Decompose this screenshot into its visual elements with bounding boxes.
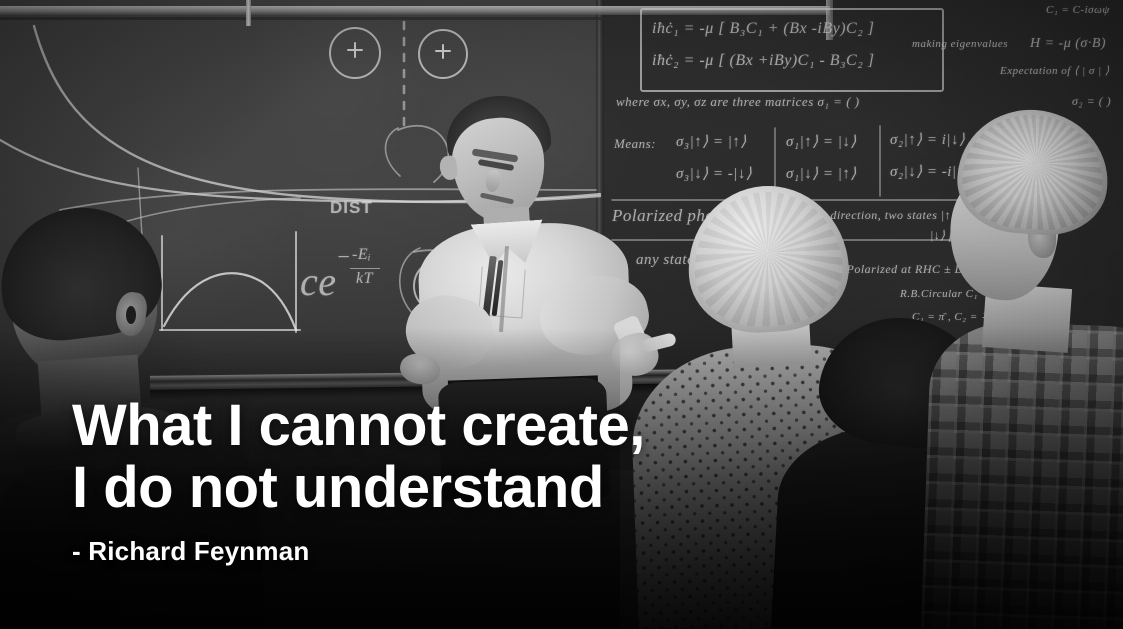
left-student-ear-canal bbox=[126, 306, 136, 324]
spin-relation-5: σ₁|↓⟩ = |↑⟩ bbox=[786, 164, 857, 183]
constants-note: C₁ = C-iσωψ bbox=[1046, 4, 1110, 16]
spin-relation-1: σ₃|↑⟩ = |↑⟩ bbox=[676, 132, 747, 151]
hamiltonian-equation: H = -μ (σ·B) bbox=[1030, 36, 1106, 52]
quote-line-1: What I cannot create, bbox=[72, 395, 772, 456]
polka-dot-hair bbox=[683, 181, 853, 338]
dist-label: DIST bbox=[330, 198, 373, 218]
quote-attribution: - Richard Feynman bbox=[72, 536, 772, 567]
blackboard-rail-peg bbox=[246, 0, 251, 26]
equation-line-1: iħċ₁ = -μ [ B₃C₁ + (Bx -iBy)C₂ ] bbox=[652, 20, 875, 38]
student-plaid-shirt bbox=[944, 110, 1123, 629]
plaid-student-hair bbox=[954, 105, 1112, 239]
spin-relation-2: σ₁|↑⟩ = |↓⟩ bbox=[786, 132, 857, 151]
boltzmann-numerator: -Eᵢ bbox=[352, 246, 371, 264]
feynman-ear bbox=[438, 155, 458, 181]
quote-overlay: What I cannot create, I do not understan… bbox=[72, 395, 772, 567]
boltzmann-fraction-bar bbox=[350, 268, 380, 269]
expectation-note: Expectation of ⟨ | σ | ⟩ bbox=[1000, 64, 1110, 77]
matrix-eigen-label: making eigenvalues bbox=[912, 38, 1008, 50]
sigma-definition: σ₂ = ( ) bbox=[1072, 94, 1111, 109]
quote-text: What I cannot create, I do not understan… bbox=[72, 395, 772, 518]
quote-image: iħċ₁ = -μ [ B₃C₁ + (Bx -iBy)C₂ ] iħċ₂ = … bbox=[0, 0, 1123, 629]
equation-line-2: iħċ₂ = -μ [ (Bx +iBy)C₁ - B₃C₂ ] bbox=[652, 52, 875, 70]
plaid-shirt bbox=[920, 320, 1123, 629]
boltzmann-prefactor: ce bbox=[300, 258, 337, 305]
boltzmann-minus-sign: − bbox=[336, 244, 351, 270]
boltzmann-denominator: kT bbox=[356, 270, 373, 288]
richard-feynman bbox=[398, 96, 660, 396]
spin-relation-4: σ₃|↓⟩ = -|↓⟩ bbox=[676, 164, 752, 183]
quote-line-2: I do not understand bbox=[72, 457, 772, 518]
